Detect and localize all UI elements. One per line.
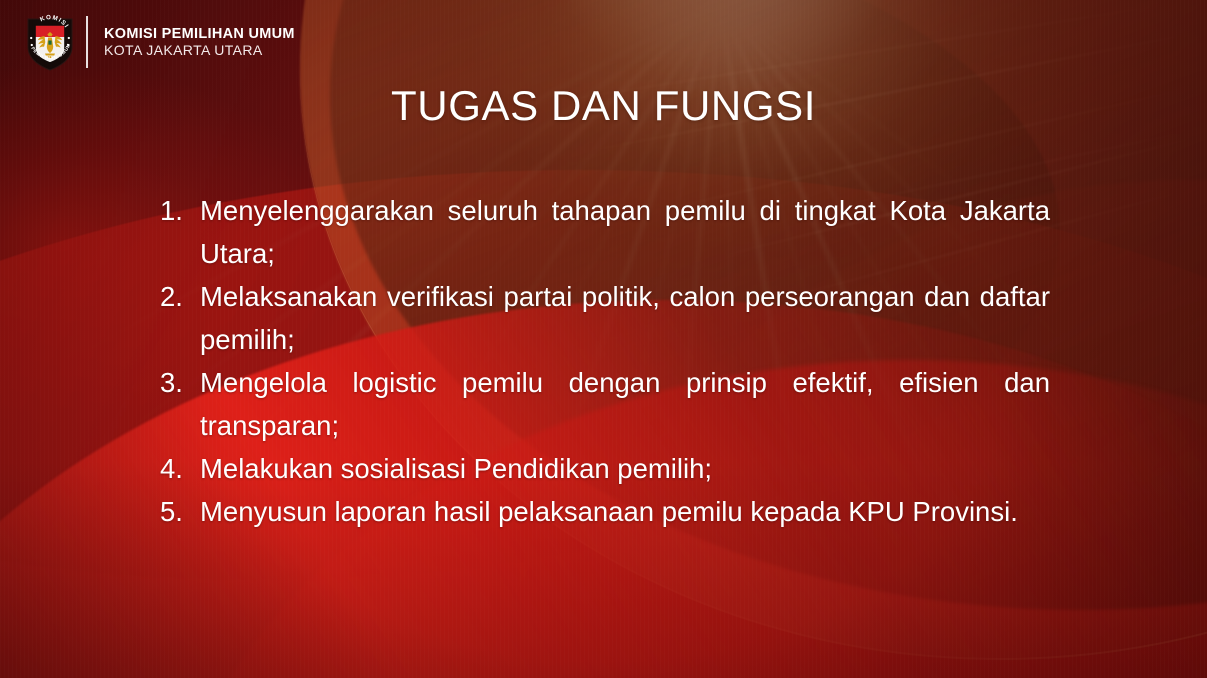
list-item: 5.Menyusun laporan hasil pelaksanaan pem… — [160, 490, 1050, 533]
list-item: 2.Melaksanakan verifikasi partai politik… — [160, 275, 1050, 361]
slide-header: KOMISI PEMILIHAN UMUM KOMISI PEMILIHAN U… — [22, 12, 295, 72]
header-org-name: KOMISI PEMILIHAN UMUM — [104, 26, 295, 42]
list-item: 4.Melakukan sosialisasi Pendidikan pemil… — [160, 447, 1050, 490]
page-title: TUGAS DAN FUNGSI — [0, 82, 1207, 130]
list-item-number: 4. — [160, 447, 200, 490]
list-item-number: 1. — [160, 189, 200, 232]
list-item: 3.Mengelola logistic pemilu dengan prins… — [160, 361, 1050, 447]
kpu-garuda-shield-logo: KOMISI PEMILIHAN UMUM — [22, 12, 78, 72]
list-item-text: Melaksanakan verifikasi partai politik, … — [200, 275, 1050, 361]
slide-canvas: KOMISI PEMILIHAN UMUM KOMISI PEMILIHAN U… — [0, 0, 1207, 678]
list-item-text: Melakukan sosialisasi Pendidikan pemilih… — [200, 447, 1050, 490]
list-item-number: 5. — [160, 490, 200, 533]
header-org-text: KOMISI PEMILIHAN UMUM KOTA JAKARTA UTARA — [104, 26, 295, 59]
list-item-text: Mengelola logistic pemilu dengan prinsip… — [200, 361, 1050, 447]
list-item-text: Menyusun laporan hasil pelaksanaan pemil… — [200, 490, 1050, 533]
tugas-dan-fungsi-list: 1.Menyelenggarakan seluruh tahapan pemil… — [160, 189, 1050, 533]
list-item-number: 3. — [160, 361, 200, 404]
list-item-text: Menyelenggarakan seluruh tahapan pemilu … — [200, 189, 1050, 275]
header-org-region: KOTA JAKARTA UTARA — [104, 43, 295, 59]
kpu-logo: KOMISI PEMILIHAN UMUM — [22, 12, 78, 72]
list-item: 1.Menyelenggarakan seluruh tahapan pemil… — [160, 189, 1050, 275]
header-divider — [86, 16, 88, 68]
list-item-number: 2. — [160, 275, 200, 318]
